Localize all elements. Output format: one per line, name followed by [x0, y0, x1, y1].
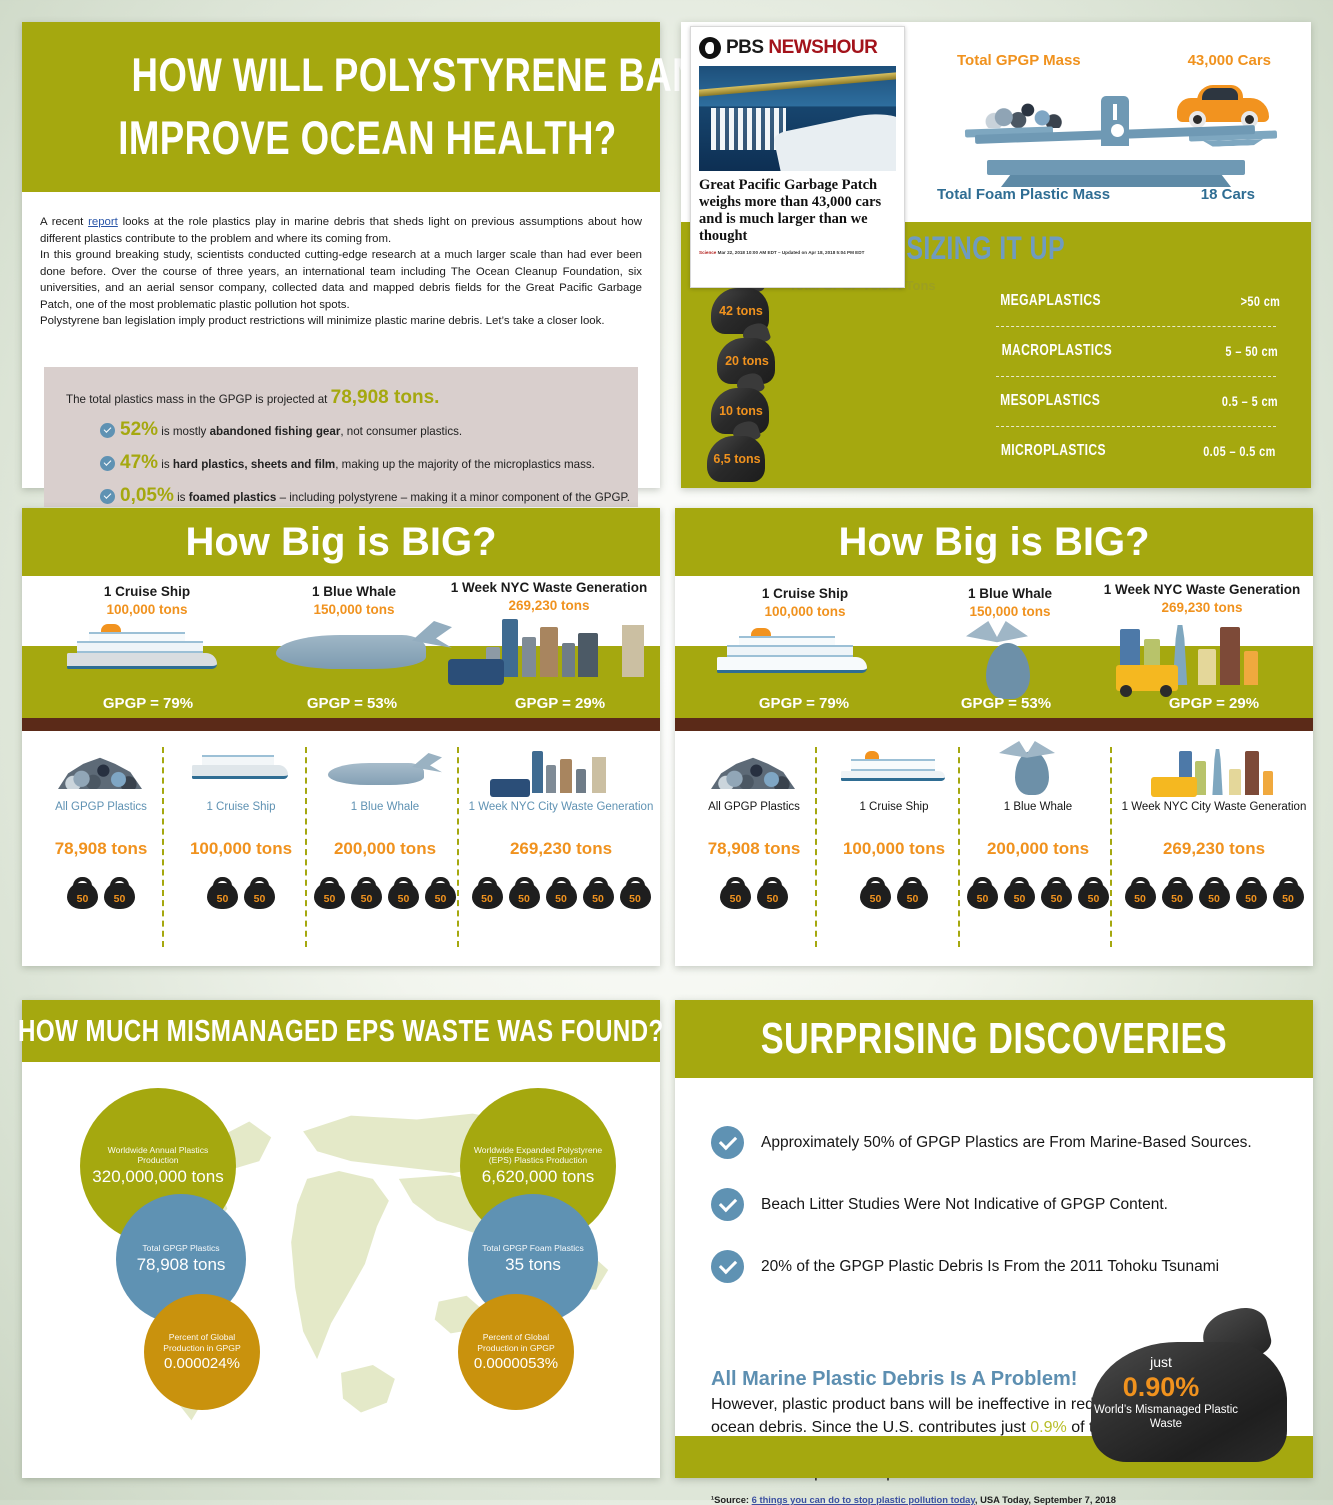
compare-name: 1 Week NYC Waste Generation: [446, 580, 652, 595]
pbs-wordmark: PBS NEWSHOUR: [726, 37, 877, 59]
kettlebell-row: 50 50: [42, 877, 160, 909]
weight-col: 1 Cruise Ship 100,000 tons 50 50: [835, 745, 953, 909]
stat-row: 52% is mostly abandoned fishing gear, no…: [44, 409, 638, 441]
whale-body: [1015, 751, 1049, 795]
page-title-line2: IMPROVE OCEAN HEALTH?: [118, 107, 616, 170]
stat-mid: is: [174, 491, 189, 504]
compare-tons: 150,000 tons: [915, 604, 1105, 619]
sizing-size: 5 – 50 cm: [1226, 343, 1279, 359]
weight-tons: 78,908 tons: [695, 839, 813, 859]
compare-col-whale: 1 Blue Whale 150,000 tons: [254, 584, 454, 683]
scale-label-bottom-left: Total Foam Plastic Mass: [937, 186, 1110, 203]
boom-shape: [699, 71, 896, 97]
pbs-headline: Great Pacific Garbage Patch weighs more …: [699, 177, 896, 245]
pbs-logo: PBS NEWSHOUR: [699, 34, 896, 62]
kettlebell-row: 50 50: [182, 877, 300, 909]
bag-caption: World’s Mismanaged Plastic Waste: [1091, 1404, 1241, 1432]
sizing-size: 0.5 – 5 cm: [1222, 393, 1278, 409]
kb-label: 50: [1004, 893, 1035, 905]
statue-of-liberty-icon: [622, 625, 644, 677]
discovery-text: Beach Litter Studies Were Not Indicative…: [761, 1196, 1168, 1214]
weight-col: 1 Week NYC City Waste Generation 269,230…: [1119, 745, 1309, 909]
kb-label: 50: [351, 893, 382, 905]
bubble-value: 35 tons: [505, 1255, 561, 1275]
check-icon: [100, 489, 115, 504]
weight-tons: 269,230 tons: [466, 839, 656, 859]
kettlebell-icon: 50: [104, 877, 135, 909]
stat-tail: , making up the majority of the micropla…: [335, 458, 595, 471]
gpgp-percent: GPGP = 53%: [262, 695, 442, 712]
kettlebell-icon: 50: [207, 877, 238, 909]
weight-col: 1 Blue Whale 200,000 tons 50 50 50 50: [322, 745, 448, 909]
compare-name: 1 Cruise Ship: [705, 586, 905, 601]
bubble-caption: Percent of Global Production in GPGP: [155, 1332, 249, 1353]
compare-tons: 100,000 tons: [42, 602, 252, 617]
car-window: [1202, 88, 1238, 100]
weight-tons: 269,230 tons: [1119, 839, 1309, 859]
whale-body: [328, 763, 424, 785]
kettlebell-icon: 50: [620, 877, 651, 909]
kettlebell-icon: 50: [757, 877, 788, 909]
pile-shape: [711, 755, 795, 789]
kettlebell-icon: 50: [583, 877, 614, 909]
kb-label: 50: [967, 893, 998, 905]
garbage-truck-icon: [1116, 665, 1178, 691]
page-title-line1: HOW WILL POLYSTYRENE BANS: [132, 44, 724, 107]
sizing-tons: 20 tons: [719, 354, 775, 368]
weight-tons: 200,000 tons: [975, 839, 1101, 859]
ship-upper-deck: [89, 632, 185, 641]
building: [1198, 649, 1216, 685]
kb-label: 50: [104, 893, 135, 905]
discovery-row: Approximately 50% of GPGP Plastics are F…: [711, 1126, 1252, 1159]
kb-label: 50: [1199, 893, 1230, 905]
stat-mid: is: [158, 458, 173, 471]
blue-whale-icon: [322, 745, 448, 797]
pbs-news-card[interactable]: PBS NEWSHOUR Great Pacific Garbage Patch…: [690, 26, 905, 288]
compare-col-cruise: 1 Cruise Ship 100,000 tons: [705, 586, 905, 679]
weight-tons: 200,000 tons: [322, 839, 448, 859]
kb-label: 50: [244, 893, 275, 905]
bubble-caption: Total GPGP Plastics: [127, 1243, 235, 1253]
kb-label: 50: [314, 893, 345, 905]
eps-waste-header: HOW MUCH MISMANAGED EPS WASTE WAS FOUND?: [22, 1000, 660, 1062]
kettlebell-icon: 50: [897, 877, 928, 909]
panel-pbs-sizing: PBS NEWSHOUR Great Pacific Garbage Patch…: [681, 22, 1311, 488]
kb-label: 50: [620, 893, 651, 905]
pbs-section: Science: [699, 250, 716, 255]
how-big-title: How Big is BIG?: [838, 520, 1149, 565]
bubble-value: 0.000024%: [164, 1355, 240, 1372]
kettlebell-icon: 50: [1273, 877, 1304, 909]
brown-divider-right: [675, 718, 1313, 731]
weight-col: All GPGP Plastics 78,908 tons 50 50: [695, 745, 813, 909]
how-big-header-left: How Big is BIG?: [22, 508, 660, 576]
stat-tail: , not consumer plastics.: [340, 425, 462, 438]
sizing-row: MACROPLASTICS 5 – 50 cm: [986, 342, 1286, 360]
check-icon: [100, 423, 115, 438]
trash-bag-icon: 6,5 tons: [703, 422, 769, 484]
scale-label-top-right: 43,000 Cars: [1188, 52, 1271, 69]
kettlebell-icon: 50: [1236, 877, 1267, 909]
kb-label: 50: [1162, 893, 1193, 905]
kettlebell-icon: 50: [860, 877, 891, 909]
sizing-size: >50 cm: [1241, 293, 1281, 309]
plastic-pile-icon: [975, 92, 1071, 128]
kb-label: 50: [1236, 893, 1267, 905]
bag-just-label: just: [1091, 1354, 1231, 1370]
gpgp-percent: GPGP = 53%: [911, 695, 1101, 712]
total-mass-value: 78,908 tons.: [331, 387, 440, 408]
intro-paragraph-2: In this ground breaking study, scientist…: [40, 247, 642, 313]
kb-label: 50: [425, 893, 456, 905]
compare-col-cruise: 1 Cruise Ship 100,000 tons: [42, 584, 252, 675]
weight-caption: 1 Blue Whale: [975, 801, 1101, 813]
sizing-tons: 42 tons: [713, 304, 769, 318]
kettlebell-row: 50 50 50 50 50: [1119, 877, 1309, 909]
compare-name: 1 Week NYC Waste Generation: [1099, 582, 1305, 597]
building: [560, 759, 572, 793]
statue-of-liberty-icon: [1209, 749, 1226, 795]
gpgp-percent: GPGP = 79%: [58, 695, 238, 712]
nyc-skyline-icon: [466, 745, 656, 797]
kettlebell-icon: 50: [351, 877, 382, 909]
kb-label: 50: [1078, 893, 1109, 905]
sizing-divider: [996, 376, 1276, 377]
scale-label-top-left: Total GPGP Mass: [957, 52, 1081, 69]
plastic-pile-icon: [42, 745, 160, 797]
kettlebell-row: 50 50: [695, 877, 813, 909]
how-big-title: How Big is BIG?: [185, 520, 496, 565]
gpgp-percent: GPGP = 79%: [709, 695, 899, 712]
ship-upper-deck: [739, 636, 835, 645]
bag-percent-value: 0.90%: [1091, 1372, 1231, 1403]
building: [532, 751, 543, 793]
intro-p1-tail: looks at the role plastics play in marin…: [40, 216, 642, 245]
panel-how-big-photo: How Big is BIG? 1 Cruise Ship 100,000 to…: [22, 508, 660, 966]
plastic-pile-icon: [695, 745, 813, 797]
pbs-head-icon: [699, 37, 721, 59]
column-divider: [457, 747, 459, 947]
sizing-tons: 10 tons: [713, 404, 769, 418]
building: [1263, 771, 1273, 795]
bubble-value: 320,000,000 tons: [92, 1167, 223, 1187]
stat-tail: – including polystyrene – making it a mi…: [276, 491, 630, 504]
sizing-row: MICROPLASTICS 0.05 – 0.5 cm: [986, 442, 1286, 460]
compare-name: 1 Cruise Ship: [42, 584, 252, 599]
sizing-title: SIZING IT UP: [906, 230, 1065, 267]
building: [522, 637, 536, 677]
kettlebell-icon: 50: [967, 877, 998, 909]
scale-label-bottom-right: 18 Cars: [1201, 186, 1255, 203]
compare-col-whale: 1 Blue Whale 150,000 tons: [915, 586, 1105, 703]
garbage-truck-icon: [448, 659, 504, 685]
check-icon: [711, 1188, 744, 1221]
stat-bold: hard plastics, sheets and film: [173, 458, 335, 471]
compare-name: 1 Blue Whale: [915, 586, 1105, 601]
discoveries-body: Approximately 50% of GPGP Plastics are F…: [675, 1078, 1313, 1478]
kettlebell-icon: 50: [720, 877, 751, 909]
bubble-percent-global-left: Percent of Global Production in GPGP 0.0…: [144, 1294, 260, 1410]
compare-tons: 269,230 tons: [446, 598, 652, 613]
stat-pct: 0,05%: [120, 485, 174, 506]
kb-label: 50: [388, 893, 419, 905]
panel-surprising-discoveries: SURPRISING DISCOVERIES Approximately 50%…: [675, 1000, 1313, 1478]
stats-box: The total plastics mass in the GPGP is p…: [44, 367, 638, 507]
cruise-ship-icon: [182, 745, 300, 797]
sizing-name: MACROPLASTICS: [1002, 342, 1113, 360]
stat-pct: 52%: [120, 419, 158, 440]
report-link[interactable]: report: [88, 216, 118, 228]
closing-heading: All Marine Plastic Debris Is A Problem!: [711, 1368, 1077, 1391]
weight-caption: 1 Week NYC City Waste Generation: [1119, 801, 1309, 813]
kb-label: 50: [720, 893, 751, 905]
kettlebell-icon: 50: [546, 877, 577, 909]
kb-label: 50: [757, 893, 788, 905]
blue-whale-icon: [975, 745, 1101, 797]
sizing-divider: [996, 326, 1276, 327]
garbage-truck-icon: [1151, 777, 1197, 797]
ship-deck: [727, 645, 853, 657]
kettlebell-row: 50 50: [835, 877, 953, 909]
bubble-percent-global-right: Percent of Global Production in GPGP 0.0…: [458, 1294, 574, 1410]
weight-caption: All GPGP Plastics: [695, 801, 813, 813]
kettlebell-icon: 50: [472, 877, 503, 909]
stat-bold: foamed plastics: [189, 491, 277, 504]
kettlebell-row: 50 50 50 50: [975, 877, 1101, 909]
kb-label: 50: [1041, 893, 1072, 905]
panel-eps-waste-map: HOW MUCH MISMANAGED EPS WASTE WAS FOUND?: [22, 1000, 660, 1478]
car-wheel-front: [1189, 111, 1206, 128]
stat-mid: is mostly: [158, 425, 210, 438]
ship-hull: [841, 771, 945, 781]
bubble-value: 78,908 tons: [137, 1255, 226, 1275]
panel-title-intro: HOW WILL POLYSTYRENE BANS IMPROVE OCEAN …: [22, 22, 660, 488]
blue-whale-icon: [964, 623, 1056, 703]
kettlebell-icon: 50: [1078, 877, 1109, 909]
kb-label: 50: [1125, 893, 1156, 905]
ship-deck: [851, 759, 935, 771]
compare-tons: 100,000 tons: [705, 604, 905, 619]
kb-label: 50: [1273, 893, 1304, 905]
cruise-ship-icon: [835, 745, 953, 797]
compare-col-nyc: 1 Week NYC Waste Generation 269,230 tons: [446, 580, 652, 685]
sizing-name: MESOPLASTICS: [1000, 392, 1100, 410]
scale-base: [987, 160, 1245, 175]
stat-row: 47% is hard plastics, sheets and film, m…: [44, 441, 638, 474]
compare-tons: 150,000 tons: [254, 602, 454, 617]
building: [578, 633, 598, 677]
sizing-tons: 6,5 tons: [709, 452, 765, 466]
brown-divider-left: [22, 718, 660, 731]
bubble-caption: Worldwide Annual Plastics Production: [92, 1145, 224, 1166]
statue-of-liberty-icon: [592, 757, 606, 793]
compare-tons: 269,230 tons: [1099, 600, 1305, 615]
compare-col-nyc: 1 Week NYC Waste Generation 269,230 tons: [1099, 582, 1305, 691]
weight-caption: 1 Cruise Ship: [182, 801, 300, 813]
whale-body: [276, 635, 426, 669]
bubble-caption: Worldwide Expanded Polystyrene (EPS) Pla…: [472, 1145, 604, 1166]
building: [540, 627, 558, 677]
eps-waste-title: HOW MUCH MISMANAGED EPS WASTE WAS FOUND?: [18, 1013, 664, 1049]
comparison-zone-left: 1 Cruise Ship 100,000 tons 1 Blue Whale …: [22, 576, 660, 718]
kettlebell-row: 50 50 50 50 50: [466, 877, 656, 909]
kb-label: 50: [509, 893, 540, 905]
nyc-skyline-icon: [1102, 615, 1302, 691]
car-icon: [1177, 88, 1269, 128]
weight-col: 1 Cruise Ship 100,000 tons 50 50: [182, 745, 300, 909]
column-divider: [305, 747, 307, 947]
weight-tons: 100,000 tons: [835, 839, 953, 859]
nyc-skyline-icon: [1119, 745, 1309, 797]
discovery-text: 20% of the GPGP Plastic Debris Is From t…: [761, 1258, 1219, 1276]
weight-caption: 1 Blue Whale: [322, 801, 448, 813]
building: [1229, 769, 1241, 795]
check-icon: [711, 1250, 744, 1283]
closing-highlight: 0.9%: [1030, 1419, 1066, 1436]
weight-col: 1 Week NYC City Waste Generation 269,230…: [466, 745, 656, 909]
ship-hull: [192, 765, 288, 779]
discoveries-title: SURPRISING DISCOVERIES: [761, 1014, 1227, 1064]
stat-pct: 47%: [120, 452, 158, 473]
kb-label: 50: [472, 893, 503, 905]
kettlebell-icon: 50: [314, 877, 345, 909]
sizing-size: 0.05 – 0.5 cm: [1203, 443, 1275, 459]
weight-caption: All GPGP Plastics: [42, 801, 160, 813]
bubble-caption: Total GPGP Foam Plastics: [479, 1243, 587, 1253]
intro-body: A recent report looks at the role plasti…: [22, 192, 660, 336]
sizing-divider: [996, 426, 1276, 427]
column-divider: [815, 747, 817, 947]
sizing-name: MEGAPLASTICS: [1000, 292, 1101, 310]
how-big-header-right: How Big is BIG?: [675, 508, 1313, 576]
pbs-timestamp: Mar 22, 2018 10:00 AM EDT – Updated on A…: [718, 250, 865, 255]
weights-zone-left: All GPGP Plastics 78,908 tons 50 50 1 Cr…: [22, 731, 660, 966]
scale-post: [1101, 96, 1129, 146]
kettlebell-icon: 50: [1162, 877, 1193, 909]
pbs-article-photo: [699, 66, 896, 171]
building: [1245, 751, 1259, 795]
weight-col: All GPGP Plastics 78,908 tons 50 50: [42, 745, 160, 909]
ship-deck: [202, 755, 274, 765]
intro-p1-lead: A recent: [40, 216, 88, 228]
kb-label: 50: [207, 893, 238, 905]
map-zone: Worldwide Annual Plastics Production 320…: [22, 1062, 660, 1478]
pbs-logo-newshour: NEWSHOUR: [768, 37, 877, 58]
cruise-ship-icon: [67, 623, 227, 675]
kb-label: 50: [546, 893, 577, 905]
kettlebell-icon: 50: [244, 877, 275, 909]
weight-col: 1 Blue Whale 200,000 tons 50 50 50 50: [975, 745, 1101, 909]
ship-hull: [67, 653, 217, 669]
garbage-truck-icon: [490, 779, 530, 797]
column-divider: [958, 747, 960, 947]
infographic-canvas: HOW WILL POLYSTYRENE BANS IMPROVE OCEAN …: [0, 0, 1333, 1500]
weight-tons: 78,908 tons: [42, 839, 160, 859]
bubble-caption: Percent of Global Production in GPGP: [469, 1332, 563, 1353]
kettlebell-icon: 50: [509, 877, 540, 909]
stats-lead: The total plastics mass in the GPGP is p…: [44, 367, 638, 409]
gpgp-percent: GPGP = 29%: [1119, 695, 1309, 712]
building: [1220, 627, 1240, 685]
column-divider: [162, 747, 164, 947]
discoveries-header: SURPRISING DISCOVERIES: [675, 1000, 1313, 1078]
kb-label: 50: [897, 893, 928, 905]
weight-caption: 1 Week NYC City Waste Generation: [466, 801, 656, 813]
kettlebell-icon: 50: [1199, 877, 1230, 909]
kettlebell-row: 50 50 50 50: [322, 877, 448, 909]
ship-hull: [717, 657, 867, 673]
kettlebell-icon: 50: [67, 877, 98, 909]
intro-paragraph-3: Polystyrene ban legislation imply produc…: [40, 313, 642, 330]
building: [546, 765, 556, 793]
discovery-row: Beach Litter Studies Were Not Indicative…: [711, 1188, 1168, 1221]
bubble-value: 0.0000053%: [474, 1355, 558, 1372]
nyc-skyline-icon: [446, 613, 652, 685]
discovery-text: Approximately 50% of GPGP Plastics are F…: [761, 1134, 1252, 1152]
ship-deck: [77, 641, 203, 653]
gpgp-percent: GPGP = 29%: [470, 695, 650, 712]
kettlebell-icon: 50: [1004, 877, 1035, 909]
panel-title-header: HOW WILL POLYSTYRENE BANS IMPROVE OCEAN …: [22, 22, 660, 192]
check-icon: [100, 456, 115, 471]
bubble-value: 6,620,000 tons: [482, 1167, 594, 1187]
pile-shape: [58, 755, 142, 789]
building: [502, 619, 518, 677]
check-icon: [711, 1126, 744, 1159]
building: [576, 769, 586, 793]
comparison-zone-right: 1 Cruise Ship 100,000 tons 1 Blue Whale …: [675, 576, 1313, 718]
stats-lead-text: The total plastics mass in the GPGP is p…: [66, 393, 331, 406]
sizing-row: MESOPLASTICS 0.5 – 5 cm: [986, 392, 1286, 410]
balance-scale-graphic: Total GPGP Mass 43,000 Cars Total Foam P…: [935, 52, 1295, 217]
cruise-ship-icon: [705, 627, 905, 679]
boat-hull-shape: [773, 105, 896, 171]
column-divider: [1110, 747, 1112, 947]
weights-zone-right: All GPGP Plastics 78,908 tons 50 50 1 Cr…: [675, 731, 1313, 966]
kettlebell-icon: 50: [388, 877, 419, 909]
stat-bold: abandoned fishing gear: [210, 425, 341, 438]
building: [562, 643, 575, 677]
weight-caption: 1 Cruise Ship: [835, 801, 953, 813]
kb-label: 50: [860, 893, 891, 905]
weight-tons: 100,000 tons: [182, 839, 300, 859]
kb-label: 50: [67, 893, 98, 905]
compare-name: 1 Blue Whale: [254, 584, 454, 599]
whale-body: [986, 643, 1030, 699]
kb-label: 50: [583, 893, 614, 905]
ship-funnel: [865, 751, 879, 759]
pbs-logo-pbs: PBS: [726, 37, 764, 58]
stat-row: 0,05% is foamed plastics – including pol…: [44, 474, 638, 507]
building: [1244, 651, 1258, 685]
trash-bag-icon: just 0.90% World’s Mismanaged Plastic Wa…: [1091, 1310, 1287, 1462]
kettlebell-icon: 50: [425, 877, 456, 909]
intro-paragraph-1: A recent report looks at the role plasti…: [40, 214, 642, 247]
discovery-row: 20% of the GPGP Plastic Debris Is From t…: [711, 1250, 1219, 1283]
sizing-name: MICROPLASTICS: [1001, 442, 1106, 460]
blue-whale-icon: [254, 617, 454, 683]
kettlebell-icon: 50: [1041, 877, 1072, 909]
kettlebell-icon: 50: [1125, 877, 1156, 909]
panel-how-big-flat: How Big is BIG? 1 Cruise Ship 100,000 to…: [675, 508, 1313, 966]
sizing-row: MEGAPLASTICS >50 cm: [986, 292, 1286, 310]
pbs-byline: Science Mar 22, 2018 10:00 AM EDT – Upda…: [699, 250, 896, 255]
